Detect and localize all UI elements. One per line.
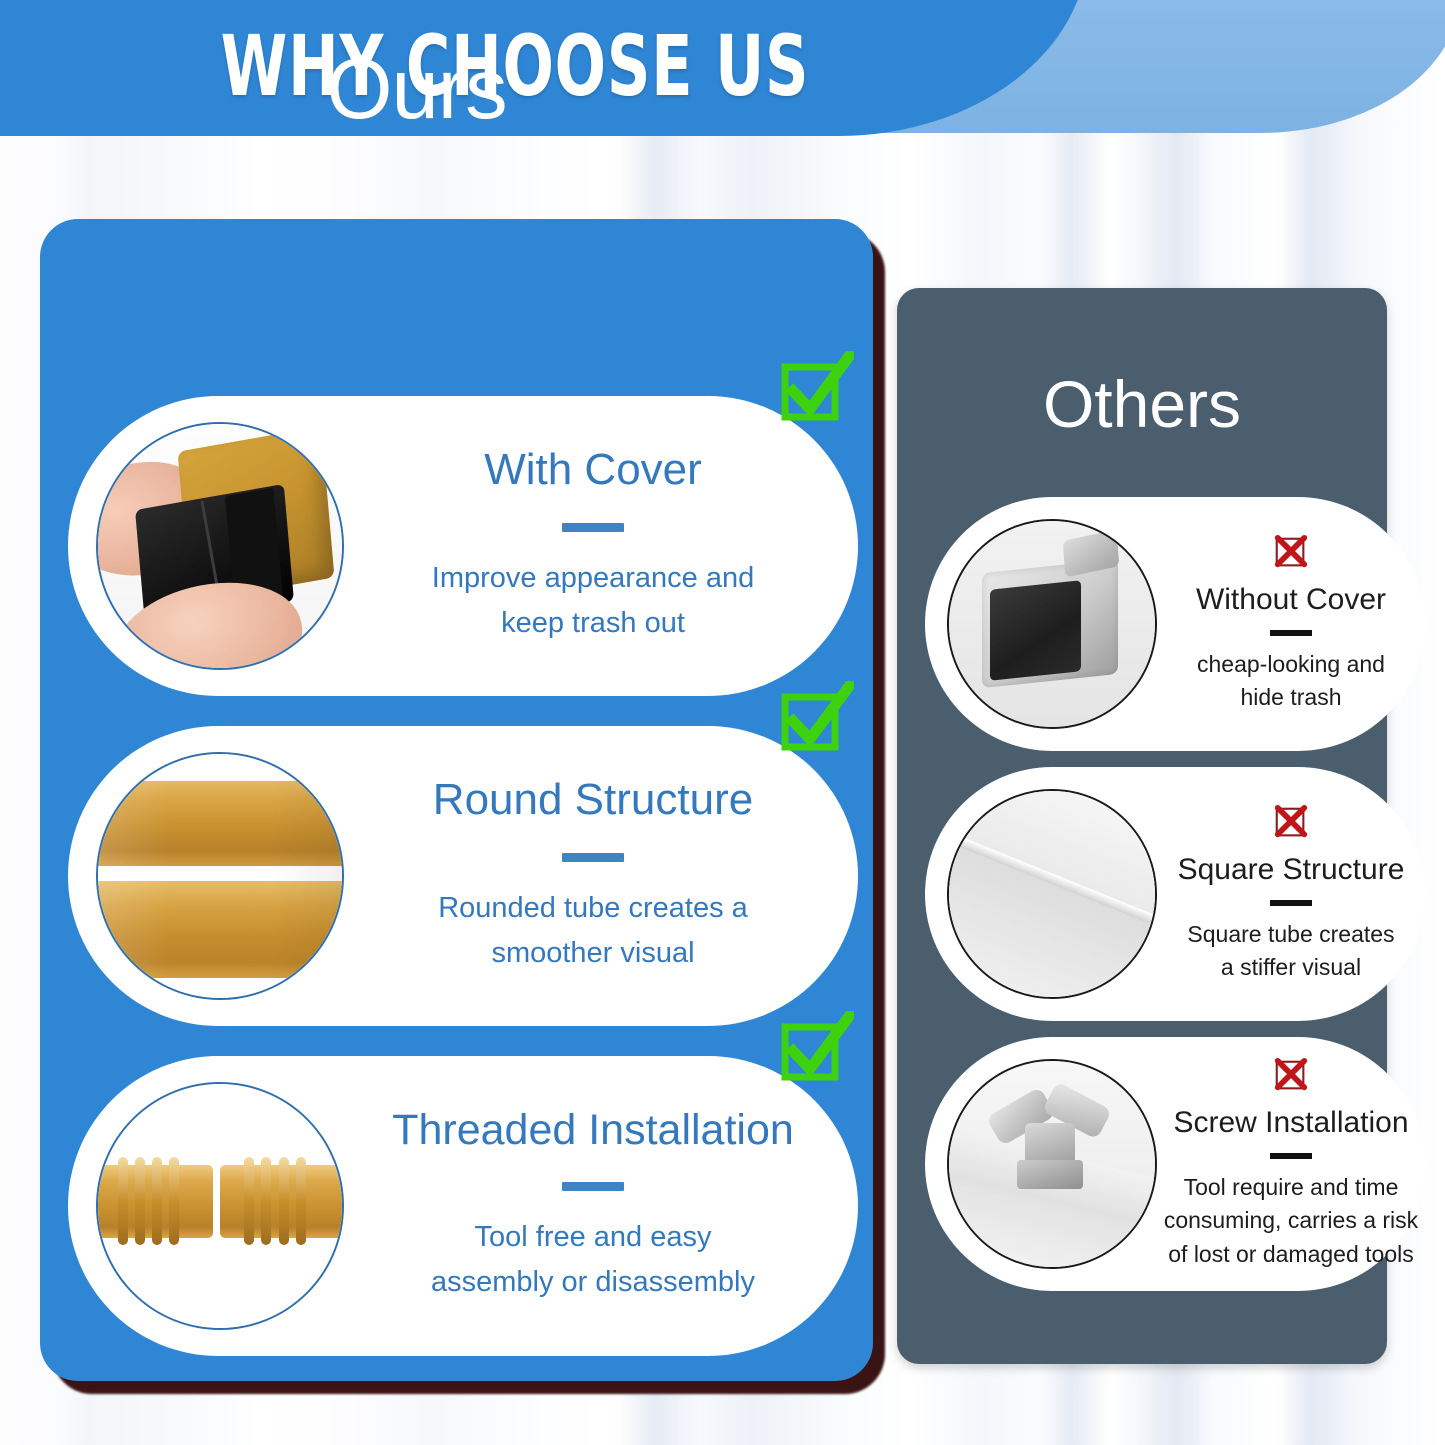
ours-card-title: Threaded Installation: [354, 1107, 832, 1154]
ours-card-desc-line2: assembly or disassembly: [354, 1260, 832, 1305]
ours-card-desc-line1: Rounded tube creates a: [354, 886, 832, 931]
ours-photo-threaded-installation: [96, 1082, 344, 1330]
others-card[interactable]: Without Cover cheap-looking and hide tra…: [925, 497, 1425, 751]
ours-card-desc-line2: keep trash out: [354, 601, 832, 646]
others-card-text: Without Cover cheap-looking and hide tra…: [1157, 534, 1425, 715]
others-card-desc-line2: consuming, carries a risk: [1163, 1204, 1419, 1237]
divider: [1270, 630, 1312, 636]
others-card[interactable]: Screw Installation Tool require and time…: [925, 1037, 1425, 1291]
divider: [562, 523, 624, 532]
others-card-desc-line2: a stiffer visual: [1163, 951, 1419, 984]
others-photo-without-cover: [947, 519, 1157, 729]
divider: [1270, 900, 1312, 906]
red-x-box-icon: [1272, 534, 1310, 572]
ours-card[interactable]: Round Structure Rounded tube creates a s…: [68, 726, 858, 1026]
ours-photo-with-cover: [96, 422, 344, 670]
others-card-desc-line1: Square tube creates: [1163, 918, 1419, 951]
red-x-box-icon: [1272, 1057, 1310, 1095]
others-card[interactable]: Square Structure Square tube creates a s…: [925, 767, 1425, 1021]
others-heading: Others: [897, 366, 1387, 442]
ours-card-text: Threaded Installation Tool free and easy…: [344, 1107, 858, 1305]
ours-heading: Ours: [0, 41, 833, 139]
ours-card-desc-line2: smoother visual: [354, 931, 832, 976]
others-card-desc-line3: of lost or damaged tools: [1163, 1238, 1419, 1271]
infographic-canvas: WHY CHOOSE US Others Without Cover cheap…: [0, 0, 1445, 1445]
ours-card-title: Round Structure: [354, 776, 832, 824]
ours-card-desc-line1: Tool free and easy: [354, 1215, 832, 1260]
ours-card-title: With Cover: [354, 446, 832, 494]
others-card-title: Square Structure: [1163, 853, 1419, 886]
ours-card-text: With Cover Improve appearance and keep t…: [344, 446, 858, 645]
ours-card-text: Round Structure Rounded tube creates a s…: [344, 776, 858, 975]
others-card-text: Square Structure Square tube creates a s…: [1157, 804, 1425, 985]
others-photo-screw-installation: [947, 1059, 1157, 1269]
ours-card[interactable]: Threaded Installation Tool free and easy…: [68, 1056, 858, 1356]
ours-photo-round-structure: [96, 752, 344, 1000]
ours-card[interactable]: With Cover Improve appearance and keep t…: [68, 396, 858, 696]
divider: [1270, 1153, 1312, 1159]
divider: [562, 1182, 624, 1191]
green-check-box-icon: [780, 1011, 854, 1085]
ours-card-desc-line1: Improve appearance and: [354, 556, 832, 601]
others-card-title: Without Cover: [1163, 583, 1419, 616]
red-x-box-icon: [1272, 804, 1310, 842]
others-photo-square-structure: [947, 789, 1157, 999]
others-card-desc-line2: hide trash: [1163, 681, 1419, 714]
others-card-title: Screw Installation: [1163, 1106, 1419, 1139]
others-card-desc-line1: cheap-looking and: [1163, 648, 1419, 681]
green-check-box-icon: [780, 351, 854, 425]
others-card-desc-line1: Tool require and time: [1163, 1171, 1419, 1204]
divider: [562, 853, 624, 862]
green-check-box-icon: [780, 681, 854, 755]
others-card-text: Screw Installation Tool require and time…: [1157, 1057, 1425, 1271]
